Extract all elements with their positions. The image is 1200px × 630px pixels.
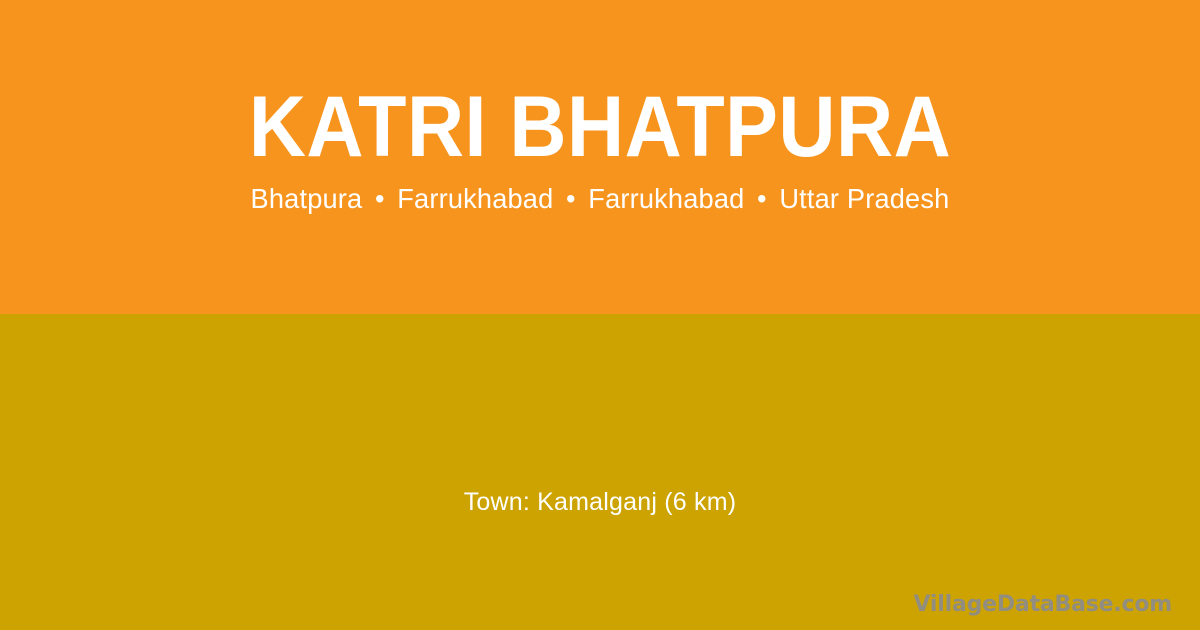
nearest-town-text: Town: Kamalganj (6 km) [0, 486, 1200, 518]
breadcrumb-item-block: Farrukhabad [397, 183, 553, 214]
page-title: KATRI BHATPURA [48, 78, 1152, 176]
village-info-card: KATRI BHATPURA Bhatpura • Farrukhabad • … [0, 0, 1200, 630]
breadcrumb-separator: • [370, 183, 389, 214]
breadcrumb-separator: • [561, 183, 580, 214]
breadcrumb-item-state: Uttar Pradesh [779, 183, 949, 214]
header-band: KATRI BHATPURA Bhatpura • Farrukhabad • … [0, 0, 1200, 314]
breadcrumb: Bhatpura • Farrukhabad • Farrukhabad • U… [18, 181, 1182, 217]
body-band: Town: Kamalganj (6 km) [0, 314, 1200, 630]
breadcrumb-item-district: Farrukhabad [588, 183, 744, 214]
breadcrumb-separator: • [752, 183, 771, 214]
breadcrumb-item-village: Bhatpura [251, 183, 363, 214]
site-watermark: VillageDataBase.com [913, 592, 1172, 618]
